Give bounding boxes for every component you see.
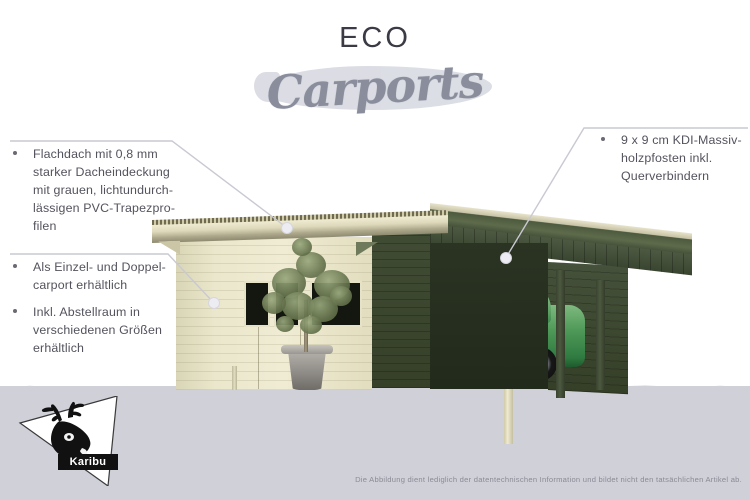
bullet-icon: [13, 151, 17, 155]
callout-item-storage-room: Inkl. Abstellraum in verschiedenen Größe…: [10, 303, 190, 357]
karibu-logo: Karibu: [18, 396, 122, 486]
callout-item-roof: Flachdach mit 0,8 mm starker Dacheindeck…: [10, 145, 190, 235]
shed-door-seam-left: [258, 327, 259, 389]
carport-post-rear: [596, 280, 605, 390]
deer-pupil: [67, 435, 71, 439]
callout-text: 9 x 9 cm KDI-Massiv- holzpfosten inkl. Q…: [621, 133, 742, 183]
promo-banner: ECO Carports: [0, 0, 750, 500]
callout-group-right: 9 x 9 cm KDI-Massiv- holzpfosten inkl. Q…: [598, 131, 748, 194]
karibu-wordmark: Karibu: [58, 454, 118, 470]
carport-post-mid: [556, 270, 565, 398]
callout-text: Inkl. Abstellraum in verschiedenen Größe…: [33, 305, 162, 355]
shed-interior-shadow: [430, 243, 548, 389]
callout-item-posts: 9 x 9 cm KDI-Massiv- holzpfosten inkl. Q…: [598, 131, 748, 185]
callout-group-left-top: Flachdach mit 0,8 mm starker Dacheindeck…: [10, 145, 190, 244]
bullet-icon: [601, 137, 605, 141]
callout-item-single-double: Als Einzel- und Doppel- carport erhältli…: [10, 258, 190, 294]
karibu-wordmark-text: Karibu: [70, 456, 107, 468]
downpipe: [232, 366, 237, 390]
callout-text: Als Einzel- und Doppel- carport erhältli…: [33, 260, 166, 292]
disclaimer-text: Die Abbildung dient lediglich der datent…: [0, 475, 742, 484]
bullet-icon: [13, 264, 17, 268]
bullet-icon: [13, 309, 17, 313]
callout-group-left-bottom: Als Einzel- und Doppel- carport erhältli…: [10, 258, 190, 366]
shed-side-wall: [372, 228, 430, 388]
logo-triangle: [18, 396, 122, 486]
callout-text: Flachdach mit 0,8 mm starker Dacheindeck…: [33, 147, 175, 233]
